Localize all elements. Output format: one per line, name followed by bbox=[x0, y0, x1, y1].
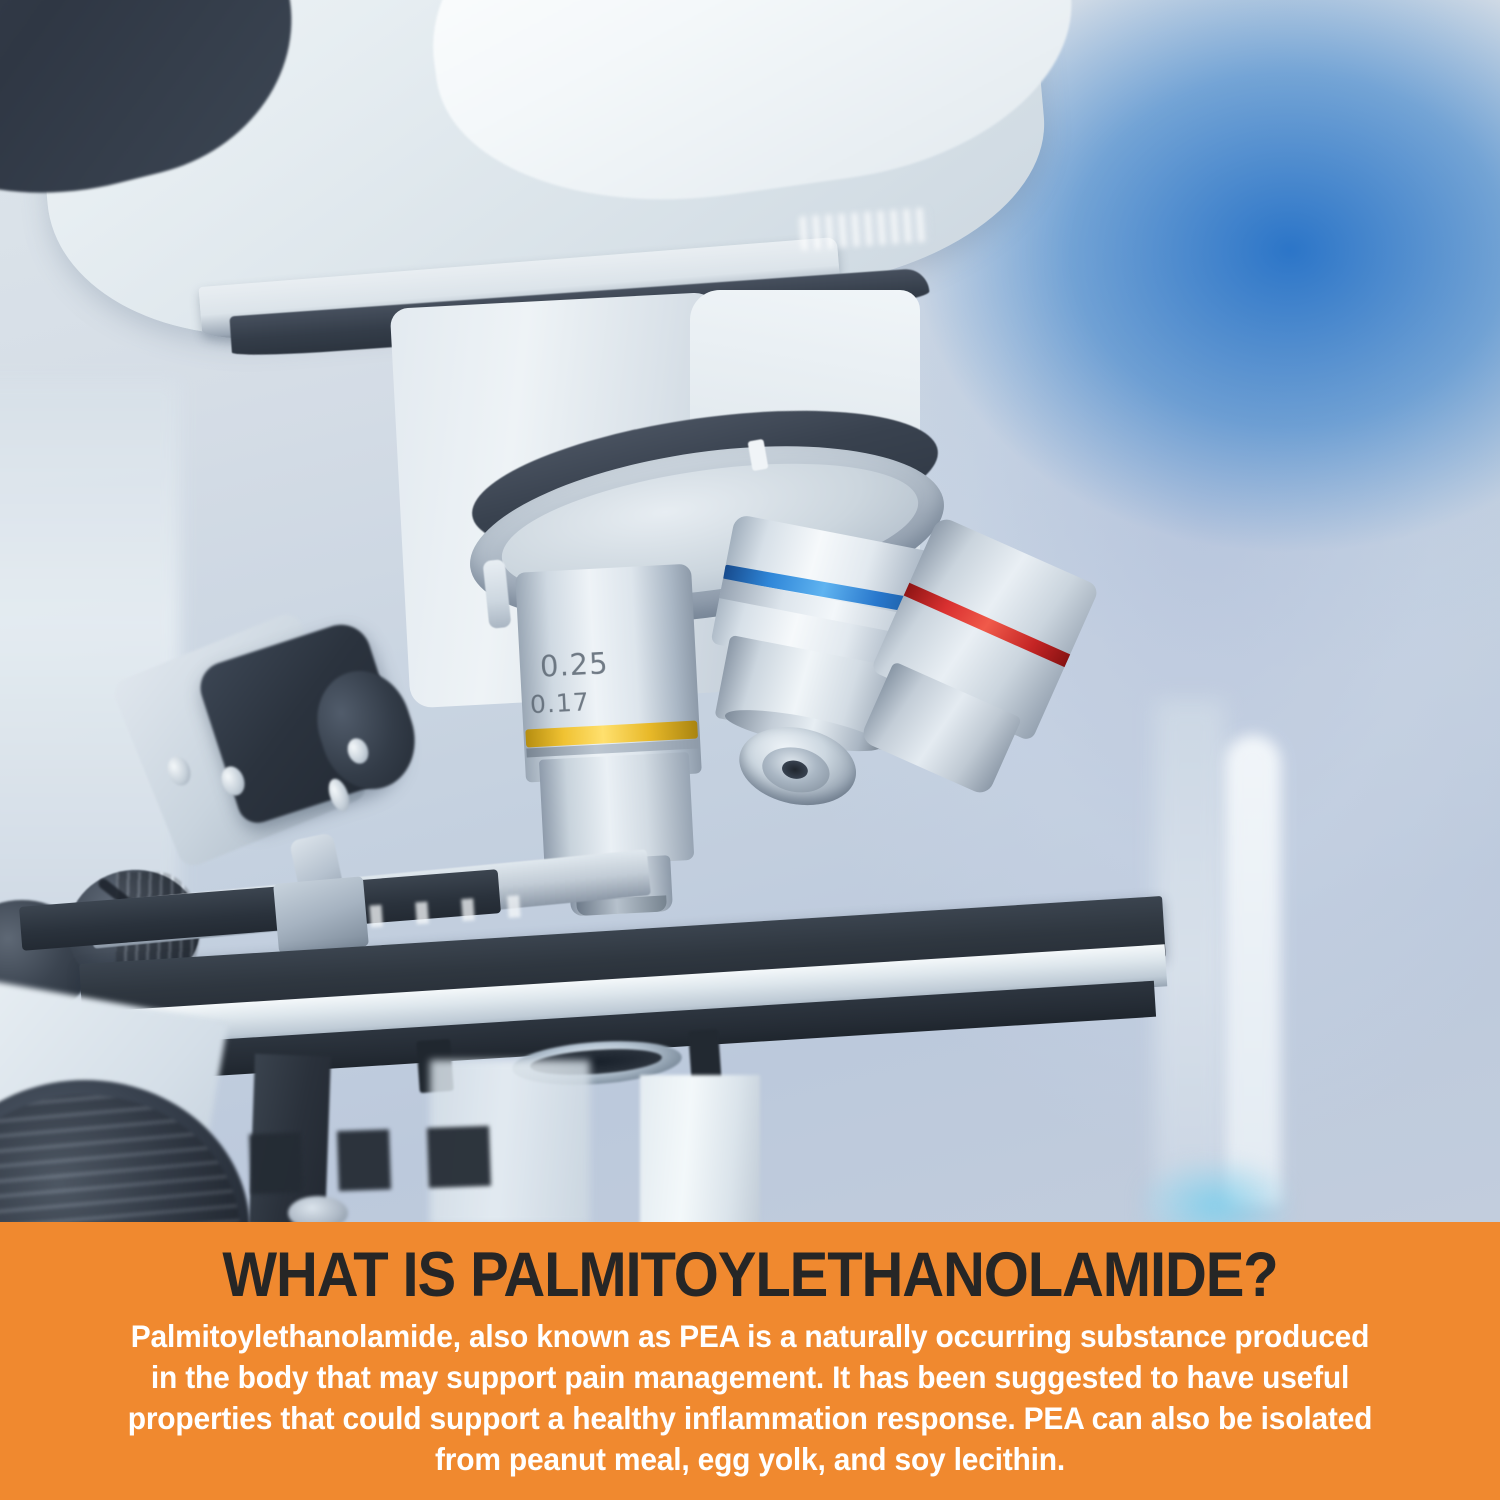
product-infographic-page: 0.25 0.17 bbox=[0, 0, 1500, 1500]
base-adjust-knob bbox=[288, 1196, 348, 1222]
banner-body-line: from peanut meal, egg yolk, and soy leci… bbox=[62, 1439, 1438, 1480]
microscope-photo: 0.25 0.17 bbox=[0, 0, 1500, 1222]
base-control-blocks bbox=[249, 1126, 491, 1194]
objective-na-label: 0.25 bbox=[539, 646, 609, 684]
background-light-tube bbox=[1225, 735, 1281, 1205]
banner-title: WHAT IS PALMITOYLETHANOLAMIDE? bbox=[60, 1222, 1440, 1307]
objective-coverglass-label: 0.17 bbox=[529, 687, 590, 719]
banner-body-line: Palmitoylethanolamide, also known as PEA… bbox=[62, 1316, 1438, 1357]
banner-body-line: properties that could support a healthy … bbox=[62, 1398, 1438, 1439]
base-column bbox=[640, 1075, 760, 1222]
banner-body-line: in the body that may support pain manage… bbox=[62, 1357, 1438, 1398]
objective-midsection bbox=[539, 752, 694, 868]
banner-body: Palmitoylethanolamide, also known as PEA… bbox=[38, 1307, 1463, 1480]
background-left-blur bbox=[0, 380, 180, 920]
slide-clip-block bbox=[273, 876, 369, 954]
background-cyan-glow bbox=[1140, 1160, 1290, 1222]
info-banner: WHAT IS PALMITOYLETHANOLAMIDE? Palmitoyl… bbox=[0, 1222, 1500, 1500]
